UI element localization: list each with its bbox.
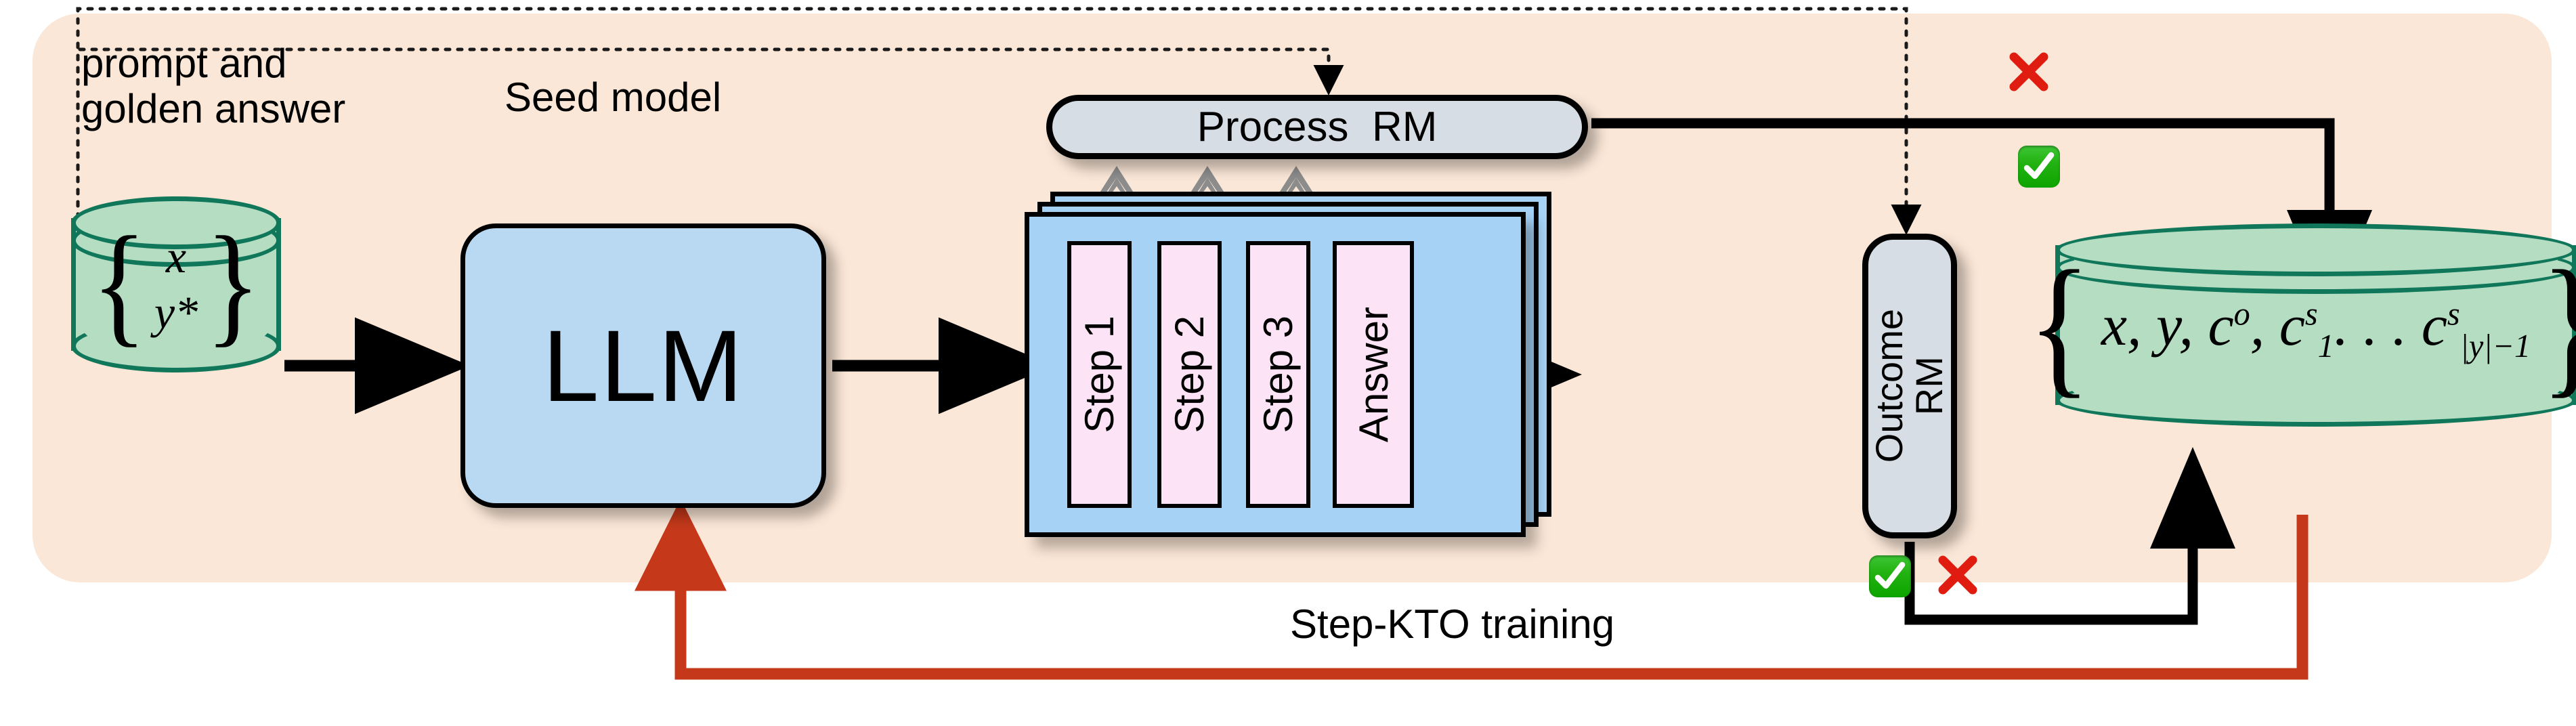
llm-label: LLM [542,307,744,425]
formula-sup-o: o [2234,296,2250,332]
step-box-3[interactable]: Step 3 [1246,241,1310,508]
step-label-3: Step 3 [1255,316,1302,433]
step-label-1: Step 1 [1076,316,1123,433]
prompt-and-golden-answer-label: prompt and golden answer [81,41,345,131]
input-item-x: x [166,234,186,280]
left-brace: { [91,242,147,326]
outcome-rm-box[interactable]: Outcome RM [1862,234,1957,538]
formula-mid: , c [2250,293,2305,358]
formula-sup-s2: s [2447,296,2460,332]
step-kto-training-label: Step-KTO training [1290,601,1614,647]
cross-icon [2008,51,2050,93]
right-brace: } [205,242,261,326]
process-rm-label: Process RM [1197,103,1438,151]
formula-sub-last: |y|−1 [2460,328,2531,364]
diagram-canvas: prompt and golden answer Seed model Step… [0,0,2576,726]
input-database-content: { x y* } [71,196,281,372]
output-database-cylinder[interactable]: { x, y, co, cs1. . . cs|y|−1 } [2055,223,2576,427]
formula-sup-s1: s [2305,296,2318,332]
step-box-1[interactable]: Step 1 [1067,241,1132,508]
seed-model-label: Seed model [505,74,721,120]
check-icon [1869,555,1911,597]
formula-dots: . . . c [2334,293,2447,358]
cross-icon [1937,554,1979,596]
process-rm-box[interactable]: Process RM [1046,95,1588,159]
input-database-cylinder[interactable]: { x y* } [71,196,281,372]
output-formula: x, y, co, cs1. . . cs|y|−1 [2097,296,2535,354]
check-icon [2018,146,2060,188]
left-brace: { [2028,277,2092,374]
step-box-2[interactable]: Step 2 [1157,241,1222,508]
formula-prefix: x, y, c [2101,293,2234,358]
input-item-y-star: y* [154,289,198,335]
right-brace: } [2540,277,2576,374]
step-label-2: Step 2 [1166,316,1213,433]
answer-box[interactable]: Answer [1333,241,1414,508]
outcome-rm-label: Outcome RM [1870,309,1950,463]
output-database-content: { x, y, co, cs1. . . cs|y|−1 } [2055,223,2576,427]
input-items: x y* [152,234,200,335]
llm-box[interactable]: LLM [460,223,826,508]
answer-label: Answer [1350,307,1397,442]
formula-sub-1: 1 [2318,328,2334,364]
